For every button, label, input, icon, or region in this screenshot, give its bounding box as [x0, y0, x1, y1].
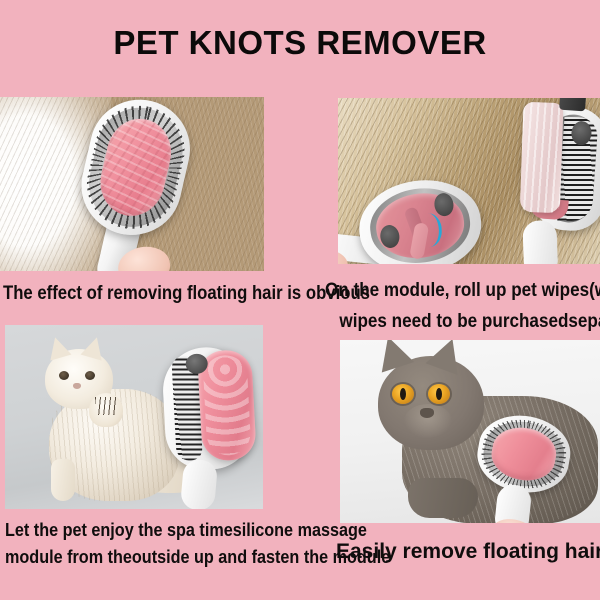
rolled-wet-wipe: [520, 102, 564, 213]
scene-cat-and-massage-module: [5, 325, 263, 509]
product-photo-panel-1: [0, 97, 264, 271]
caption-panel-2: On the module, roll up pet wipes(wet wip…: [325, 275, 600, 337]
cat-nose: [420, 408, 434, 418]
caption-line: Easily remove floating hair: [336, 540, 600, 564]
product-photo-panel-3: [5, 325, 263, 509]
cat-front-leg: [51, 459, 75, 501]
brush-handle: [180, 459, 218, 509]
module-clip: [559, 98, 586, 111]
pet-brush-massage-module: [153, 340, 263, 509]
cat-raised-paw: [89, 393, 123, 427]
cat-nose: [73, 383, 81, 389]
page-title: PET KNOTS REMOVER: [0, 24, 600, 62]
product-photo-panel-2: [338, 98, 600, 264]
scene-brush-on-fur: [0, 97, 264, 271]
caption-line: wipes need to be purchasedseparately): [339, 306, 600, 337]
brush-handle: [493, 483, 532, 523]
caption-line: The effect of removing floating hair is …: [3, 283, 370, 305]
pet-brush: [459, 408, 600, 523]
scene-grey-cat-brushing: [340, 340, 600, 523]
caption-line: Let the pet enjoy the spa timesilicone m…: [5, 517, 390, 544]
caption-panel-3: Let the pet enjoy the spa timesilicone m…: [5, 517, 390, 571]
cat-eye-left: [59, 371, 69, 380]
brush-handle: [522, 220, 558, 264]
caption-panel-4: Easily remove floating hair: [336, 540, 600, 564]
cat-pupil-left: [400, 388, 406, 400]
brush-with-rolled-wipe: [492, 98, 600, 264]
product-infographic: PET KNOTS REMOVER: [0, 0, 600, 600]
product-photo-panel-4: [340, 340, 600, 523]
caption-line: On the module, roll up pet wipes(wet: [325, 275, 600, 306]
cat-pupil-right: [436, 388, 442, 400]
cat-eye-right: [85, 371, 95, 380]
scene-wipe-module: [338, 98, 600, 264]
caption-line: module from theoutside up and fasten the…: [5, 544, 390, 571]
caption-panel-1: The effect of removing floating hair is …: [3, 283, 370, 305]
